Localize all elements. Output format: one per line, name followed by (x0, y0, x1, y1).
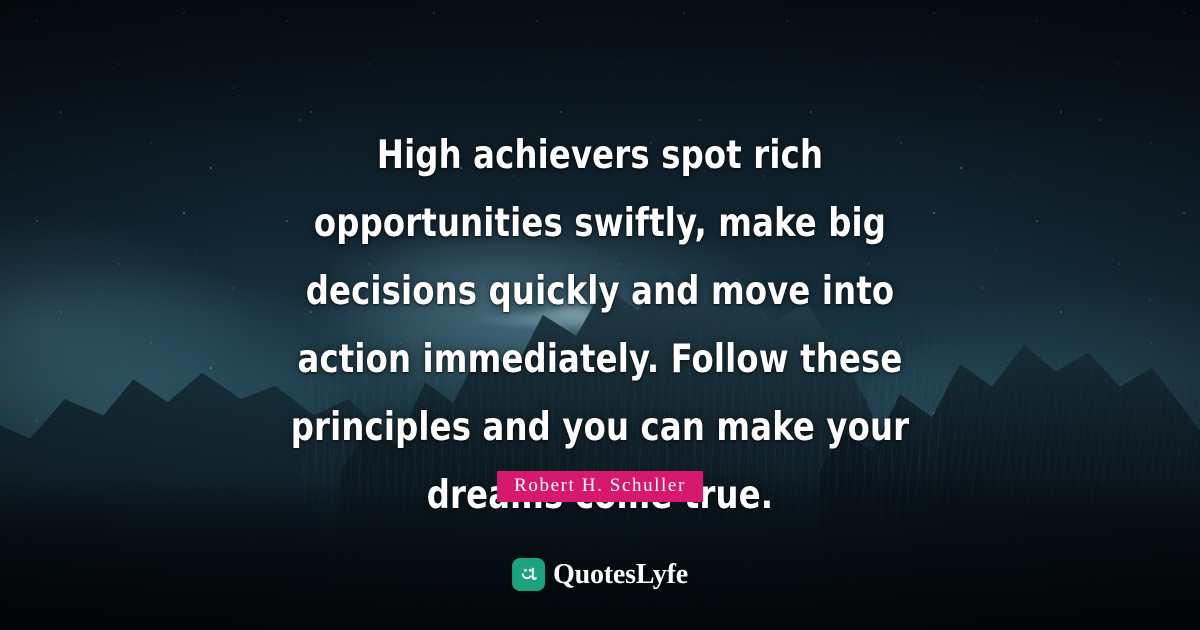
brand-logo[interactable]: QuotesLyfe (512, 558, 688, 591)
author-badge: Robert H. Schuller (497, 471, 703, 502)
quote-mark-icon (512, 558, 545, 591)
quote-card: High achievers spot rich opportunities s… (0, 0, 1200, 630)
brand-name: QuotesLyfe (553, 560, 688, 590)
quote-text: High achievers spot rich opportunities s… (48, 122, 1152, 530)
quote-content: High achievers spot rich opportunities s… (0, 0, 1200, 630)
